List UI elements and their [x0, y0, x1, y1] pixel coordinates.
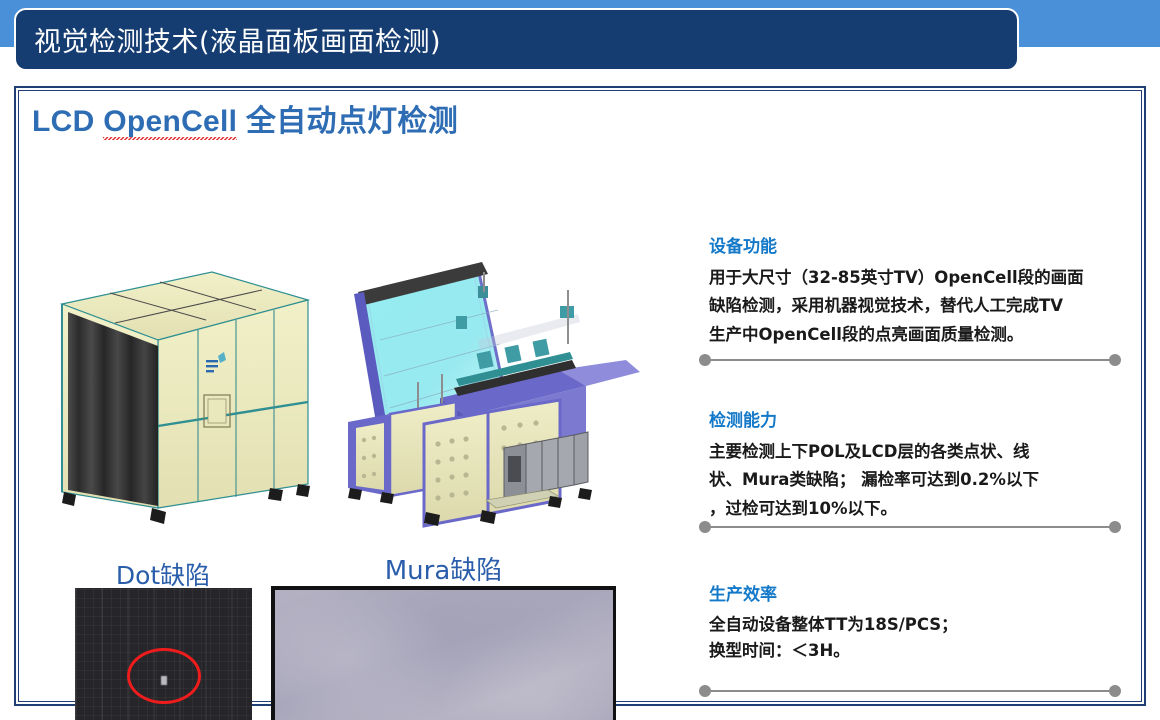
inspection-station-illustration — [328, 248, 646, 528]
dot-defect-sample-image — [75, 588, 252, 720]
info-block-detection-capability: 检测能力 主要检测上下POL及LCD层的各类点状、线 状、Mura类缺陷； 漏检… — [695, 406, 1135, 523]
slide-title-bar: 视觉检测技术(液晶面板画面检测) — [14, 8, 1019, 71]
page-title: 视觉检测技术(液晶面板画面检测) — [16, 20, 441, 59]
info-block-production-efficiency: 生产效率 全自动设备整体TT为18S/PCS； 换型时间：＜3H。 — [695, 580, 1135, 663]
section-heading: LCD OpenCell 全自动点灯检测 — [32, 96, 458, 140]
divider-3 — [695, 685, 1125, 697]
divider-line — [705, 690, 1115, 692]
mura-defect-label: Mura缺陷 — [271, 550, 616, 587]
heading-spellchecked-term: OpenCell — [103, 105, 237, 141]
info-block-body: 全自动设备整体TT为18S/PCS； 换型时间：＜3H。 — [709, 612, 1135, 663]
divider-left-dot-icon — [699, 685, 711, 697]
slide-root: 视觉检测技术(液晶面板画面检测) LCD OpenCell 全自动点灯检测 — [0, 0, 1160, 720]
divider-right-dot-icon — [1109, 685, 1121, 697]
divider-1 — [695, 354, 1125, 366]
info-block-title: 检测能力 — [709, 406, 1135, 431]
info-block-title: 设备功能 — [709, 232, 1135, 257]
dot-defect-label: Dot缺陷 — [74, 556, 252, 592]
info-block-title: 生产效率 — [709, 580, 1135, 605]
divider-left-dot-icon — [699, 521, 711, 533]
info-block-body: 主要检测上下POL及LCD层的各类点状、线 状、Mura类缺陷； 漏检率可达到0… — [709, 438, 1135, 523]
dot-defect-annotation-ellipse — [127, 648, 201, 704]
content-panel: LCD OpenCell 全自动点灯检测 — [14, 86, 1146, 706]
info-column: 设备功能 用于大尺寸（32-85英寸TV）OpenCell段的画面 缺陷检测，采… — [695, 88, 1135, 704]
heading-prefix: LCD — [32, 105, 103, 138]
shielded-cabinet-illustration — [40, 256, 330, 524]
divider-line — [705, 526, 1115, 528]
mura-panel-surface — [275, 590, 613, 720]
divider-2 — [695, 521, 1125, 533]
info-block-body: 用于大尺寸（32-85英寸TV）OpenCell段的画面 缺陷检测，采用机器视觉… — [709, 264, 1135, 349]
mura-defect-sample-image — [271, 586, 616, 720]
divider-right-dot-icon — [1109, 354, 1121, 366]
heading-suffix: 全自动点灯检测 — [237, 105, 458, 138]
divider-line — [705, 359, 1115, 361]
divider-left-dot-icon — [699, 354, 711, 366]
divider-right-dot-icon — [1109, 521, 1121, 533]
info-block-equipment-function: 设备功能 用于大尺寸（32-85英寸TV）OpenCell段的画面 缺陷检测，采… — [695, 232, 1135, 349]
